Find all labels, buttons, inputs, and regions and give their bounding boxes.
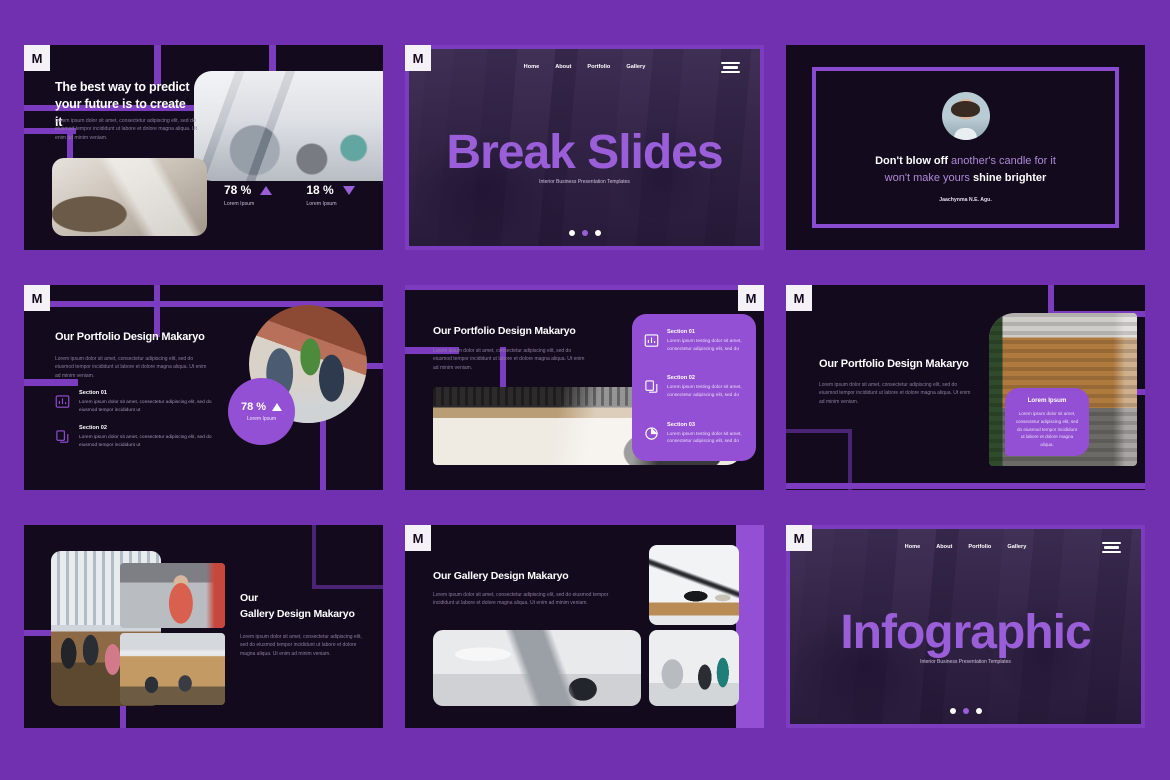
section-item: Section 01 Lorem ipsum dolor sit amet, c… <box>55 390 215 414</box>
decor-outline-square <box>312 525 383 589</box>
slide-body: Lorem ipsum dolor sit amet, consectetur … <box>55 355 207 380</box>
carousel-dot[interactable] <box>950 708 956 714</box>
logo-letter: M <box>746 291 757 306</box>
slide-8-gallery-grid[interactable]: M Our Gallery Design Makaryo Lorem ipsum… <box>405 525 764 728</box>
nav-item-home[interactable]: Home <box>524 64 540 70</box>
section-item: Section 02 Lorem ipsum testing dolor sit… <box>644 375 744 399</box>
hero-title: Infographic <box>786 605 1145 660</box>
decor-bar-vertical <box>154 285 160 337</box>
stat-value: 78 % <box>224 183 251 197</box>
decor-bar-top <box>405 285 764 290</box>
slide-title-line1: Our <box>240 591 355 607</box>
hamburger-menu-icon[interactable] <box>721 62 740 73</box>
carousel-dot-active[interactable] <box>963 708 969 714</box>
sections-card: Section 01 Lorem ipsum testing dolor sit… <box>632 314 756 461</box>
slide-7-gallery-photos[interactable]: Our Gallery Design Makaryo Lorem ipsum d… <box>24 525 383 728</box>
carousel-dots[interactable] <box>405 230 764 236</box>
decor-bar-vertical <box>120 705 126 728</box>
stat-item: 18 % Lorem Ipsum <box>306 183 354 207</box>
carousel-dot[interactable] <box>569 230 575 236</box>
trend-up-icon <box>260 186 272 195</box>
nav-item-gallery[interactable]: Gallery <box>626 64 645 70</box>
section-text: Lorem ipsum testing dolor sit amet, cons… <box>667 338 744 353</box>
logo-mark[interactable]: M <box>24 45 50 71</box>
decor-bar-horizontal-short <box>24 379 78 386</box>
trend-down-icon <box>343 186 355 195</box>
tooltip-card: Lorem Ipsum Lorem ipsum dolor sit amet, … <box>1005 388 1089 456</box>
slide-title: Our Gallery Design Makaryo <box>240 591 355 623</box>
section-heading: Section 02 <box>667 375 744 381</box>
office-gear-photo <box>649 630 739 706</box>
stats-row: 78 % Lorem Ipsum 18 % Lorem Ipsum <box>224 183 374 207</box>
desk-lamp-photo <box>649 545 739 625</box>
logo-mark[interactable]: M <box>405 45 431 71</box>
carousel-dot[interactable] <box>595 230 601 236</box>
slide-6-portfolio-interior[interactable]: Lorem Ipsum Lorem ipsum dolor sit amet, … <box>786 285 1145 490</box>
section-heading: Section 01 <box>79 390 215 396</box>
quote-part-3: won't make yours <box>885 172 973 184</box>
decor-outline-square <box>786 429 852 490</box>
section-item: Section 03 Lorem ipsum testing dolor sit… <box>644 422 744 446</box>
top-nav: Home About Portfolio Gallery <box>786 544 1145 550</box>
nav-item-about[interactable]: About <box>936 544 952 550</box>
slide-1-predict[interactable]: M The best way to predict your future is… <box>24 45 383 250</box>
hero-subtitle: Interior Business Presentation Templates <box>786 659 1145 665</box>
slide-9-infographic[interactable]: M Home About Portfolio Gallery Infograph… <box>786 525 1145 728</box>
slide-title: Our Portfolio Design Makaryo <box>433 325 576 337</box>
hero-title: Break Slides <box>405 125 764 180</box>
logo-mark[interactable]: M <box>786 285 812 311</box>
nav-item-home[interactable]: Home <box>905 544 921 550</box>
slide-3-quote[interactable]: Don't blow off another's candle for it w… <box>786 45 1145 250</box>
quote-part-2: another's candle for it <box>951 155 1056 167</box>
stat-caption: Lorem Ipsum <box>306 201 354 207</box>
nav-item-gallery[interactable]: Gallery <box>1007 544 1026 550</box>
section-text: Lorem ipsum dolor sit amet, consectetur … <box>79 399 215 414</box>
bar-chart-icon <box>55 394 70 409</box>
logo-mark[interactable]: M <box>738 285 764 311</box>
quote-text: Don't blow off another's candle for it w… <box>816 153 1115 186</box>
hamburger-menu-icon[interactable] <box>1102 542 1121 553</box>
tooltip-text: Lorem ipsum dolor sit amet, consectetur … <box>1015 410 1079 449</box>
presenter-photo <box>120 563 225 628</box>
carousel-dot[interactable] <box>976 708 982 714</box>
meeting-table-photo <box>120 633 225 705</box>
slide-body: Lorem ipsum dolor sit amet, consectetur … <box>55 117 197 142</box>
bar-chart-icon <box>644 333 659 348</box>
nav-item-portfolio[interactable]: Portfolio <box>587 64 610 70</box>
stat-item: 78 % Lorem Ipsum <box>224 183 272 207</box>
logo-letter: M <box>413 51 424 66</box>
logo-letter: M <box>413 531 424 546</box>
logo-mark[interactable]: M <box>786 525 812 551</box>
nav-item-portfolio[interactable]: Portfolio <box>968 544 991 550</box>
logo-letter: M <box>32 51 43 66</box>
logo-letter: M <box>32 291 43 306</box>
slide-title: Our Gallery Design Makaryo <box>433 570 568 582</box>
badge-caption: Lorem Ipsum <box>247 416 276 422</box>
decor-bar-bottom <box>786 483 1145 489</box>
hero-subtitle: Interior Business Presentation Templates <box>405 179 764 185</box>
quote-author: Jaachynma N.E. Agu. <box>786 197 1145 203</box>
section-item: Section 02 Lorem ipsum dolor sit amet, c… <box>55 425 215 449</box>
slide-2-break-slides[interactable]: M Home About Portfolio Gallery Break Sli… <box>405 45 764 250</box>
slide-body: Lorem ipsum dolor sit amet, consectetur … <box>819 381 971 406</box>
carousel-dot-active[interactable] <box>582 230 588 236</box>
section-text: Lorem ipsum dolor sit amet, consectetur … <box>79 434 215 449</box>
section-item: Section 01 Lorem ipsum testing dolor sit… <box>644 329 744 353</box>
logo-mark[interactable]: M <box>405 525 431 551</box>
tooltip-heading: Lorem Ipsum <box>1015 397 1079 404</box>
slide-title: Our Portfolio Design Makaryo <box>55 331 205 343</box>
stat-caption: Lorem Ipsum <box>224 201 272 207</box>
avatar <box>942 92 990 140</box>
desk-imac-photo <box>194 71 383 181</box>
badge-value: 78 % <box>241 401 266 413</box>
pie-chart-icon <box>644 426 659 441</box>
slide-body: Lorem ipsum dolor sit amet, consectetur … <box>433 591 619 608</box>
laptop-desk-photo <box>433 630 641 706</box>
section-text: Lorem ipsum testing dolor sit amet, cons… <box>667 431 744 446</box>
slide-5-portfolio-card[interactable]: M Our Portfolio Design Makaryo Lorem ips… <box>405 285 764 490</box>
stat-value: 18 % <box>306 183 333 197</box>
section-heading: Section 02 <box>79 425 215 431</box>
trend-up-icon <box>272 403 282 411</box>
slide-grid: M The best way to predict your future is… <box>0 0 1170 780</box>
stat-badge: 78 % Lorem Ipsum <box>228 378 295 445</box>
logo-mark[interactable]: M <box>24 285 50 311</box>
nav-item-about[interactable]: About <box>555 64 571 70</box>
slide-title: Our Portfolio Design Makaryo <box>819 358 969 370</box>
top-nav: Home About Portfolio Gallery <box>405 64 764 70</box>
quote-part-1: Don't blow off <box>875 155 951 167</box>
slide-title-line2: Gallery Design Makaryo <box>240 607 355 623</box>
quote-part-4: shine brighter <box>973 172 1046 184</box>
writing-notebook-photo <box>52 158 207 236</box>
document-copy-icon <box>644 379 659 394</box>
logo-letter: M <box>794 531 805 546</box>
section-heading: Section 03 <box>667 422 744 428</box>
section-text: Lorem ipsum testing dolor sit amet, cons… <box>667 384 744 399</box>
document-copy-icon <box>55 429 70 444</box>
decor-right-band <box>736 525 764 728</box>
slide-body: Lorem ipsum dolor sit amet, consectetur … <box>433 347 585 372</box>
logo-letter: M <box>794 291 805 306</box>
slide-4-portfolio-circle[interactable]: 78 % Lorem Ipsum M Our Portfolio Design … <box>24 285 383 490</box>
slide-body: Lorem ipsum dolor sit amet, consectetur … <box>240 633 368 658</box>
carousel-dots[interactable] <box>786 708 1145 714</box>
section-heading: Section 01 <box>667 329 744 335</box>
